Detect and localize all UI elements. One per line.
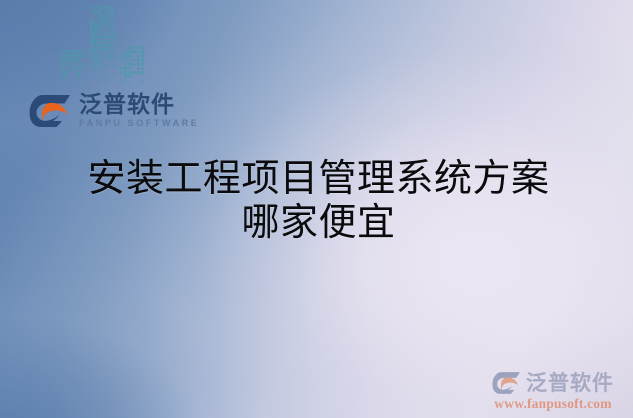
watermark-url: www.fanpusoft.com xyxy=(479,396,627,412)
brand-name-en: FANPU SOFTWARE xyxy=(79,118,199,128)
pixel-bar-chart-icon xyxy=(60,6,148,86)
watermark-name-cn: 泛普软件 xyxy=(526,373,614,394)
brand-name-cn: 泛普软件 xyxy=(79,94,199,117)
brand-logo: 泛普软件 FANPU SOFTWARE xyxy=(29,94,199,128)
page-title-line-2: 哪家便宜 xyxy=(0,200,633,244)
brand-wordmark: 泛普软件 FANPU SOFTWARE xyxy=(79,94,199,128)
page-title-line-1: 安装工程项目管理系统方案 xyxy=(0,156,633,200)
fanpu-logo-mark-icon xyxy=(29,94,73,128)
slide-canvas: 泛普软件 FANPU SOFTWARE 安装工程项目管理系统方案 哪家便宜 泛普… xyxy=(0,0,633,418)
fanpu-watermark-logo-mark-icon xyxy=(492,371,522,395)
page-title: 安装工程项目管理系统方案 哪家便宜 xyxy=(0,156,633,245)
watermark: 泛普软件 www.fanpusoft.com xyxy=(479,371,627,412)
watermark-logo-row: 泛普软件 xyxy=(479,371,627,395)
